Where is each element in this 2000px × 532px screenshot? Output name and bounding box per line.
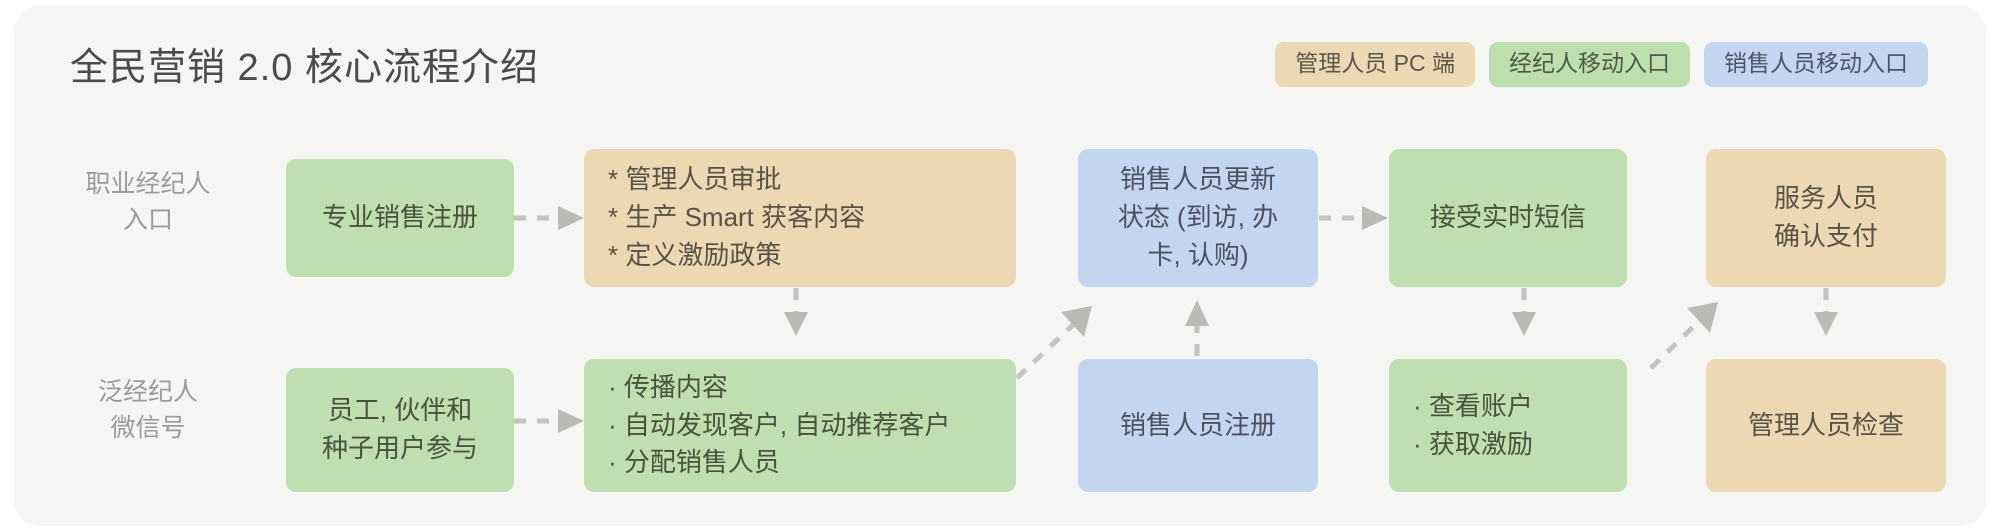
row-label-line-1: 职业经纪人 xyxy=(48,166,248,202)
page-title: 全民营销 2.0 核心流程介绍 xyxy=(70,36,539,91)
node-view-account-incentive[interactable]: · 查看账户 · 获取激励 xyxy=(1389,359,1627,492)
node-line: * 生产 Smart 获客内容 xyxy=(608,199,865,237)
node-line: * 定义激励政策 xyxy=(608,237,781,275)
node-line: · 自动发现客户, 自动推荐客户 xyxy=(608,407,950,445)
node-line: 服务人员 xyxy=(1774,180,1878,218)
node-line: 专业销售注册 xyxy=(322,199,478,237)
diagram-panel: 全民营销 2.0 核心流程介绍 管理人员 PC 端 经纪人移动入口 销售人员移动… xyxy=(14,6,1986,526)
row-label-line-2: 入口 xyxy=(48,202,248,238)
node-line: 销售人员注册 xyxy=(1120,407,1276,445)
node-line: 销售人员更新 xyxy=(1120,161,1276,199)
row-label-general-broker: 泛经纪人 微信号 xyxy=(48,374,248,447)
legend-chip-sales-mobile[interactable]: 销售人员移动入口 xyxy=(1704,42,1928,87)
legend: 管理人员 PC 端 经纪人移动入口 销售人员移动入口 xyxy=(1275,42,1928,87)
row-label-line-2: 微信号 xyxy=(48,410,248,446)
node-line: 员工, 伙伴和 xyxy=(328,392,472,430)
node-line: · 获取激励 xyxy=(1413,426,1533,464)
node-line: 接受实时短信 xyxy=(1430,199,1586,237)
node-sales-update-status[interactable]: 销售人员更新 状态 (到访, 办 卡, 认购) xyxy=(1078,149,1318,287)
node-line: · 传播内容 xyxy=(608,369,728,407)
node-line: 管理人员检查 xyxy=(1748,407,1904,445)
legend-chip-broker-mobile[interactable]: 经纪人移动入口 xyxy=(1489,42,1690,87)
node-line: 状态 (到访, 办 xyxy=(1118,199,1278,237)
node-line: · 分配销售人员 xyxy=(608,444,780,482)
legend-chip-admin-pc[interactable]: 管理人员 PC 端 xyxy=(1275,42,1475,87)
node-sales-register[interactable]: 销售人员注册 xyxy=(1078,359,1318,492)
flowchart-canvas: 全民营销 2.0 核心流程介绍 管理人员 PC 端 经纪人移动入口 销售人员移动… xyxy=(0,0,2000,532)
node-receive-realtime-sms[interactable]: 接受实时短信 xyxy=(1389,149,1627,287)
node-service-confirm-payment[interactable]: 服务人员 确认支付 xyxy=(1706,149,1946,287)
node-line: · 查看账户 xyxy=(1413,388,1533,426)
node-line: * 管理人员审批 xyxy=(608,161,781,199)
node-line: 种子用户参与 xyxy=(322,430,478,468)
node-spread-content-tasks[interactable]: · 传播内容 · 自动发现客户, 自动推荐客户 · 分配销售人员 xyxy=(584,359,1016,492)
node-employees-partners-seed-users[interactable]: 员工, 伙伴和 种子用户参与 xyxy=(286,368,514,492)
node-line: 确认支付 xyxy=(1774,218,1878,256)
node-professional-sales-register[interactable]: 专业销售注册 xyxy=(286,159,514,277)
row-label-professional-broker: 职业经纪人 入口 xyxy=(48,166,248,239)
node-line: 卡, 认购) xyxy=(1147,237,1248,275)
node-admin-approval-tasks[interactable]: * 管理人员审批 * 生产 Smart 获客内容 * 定义激励政策 xyxy=(584,149,1016,287)
node-admin-check[interactable]: 管理人员检查 xyxy=(1706,359,1946,492)
row-label-line-1: 泛经纪人 xyxy=(48,374,248,410)
